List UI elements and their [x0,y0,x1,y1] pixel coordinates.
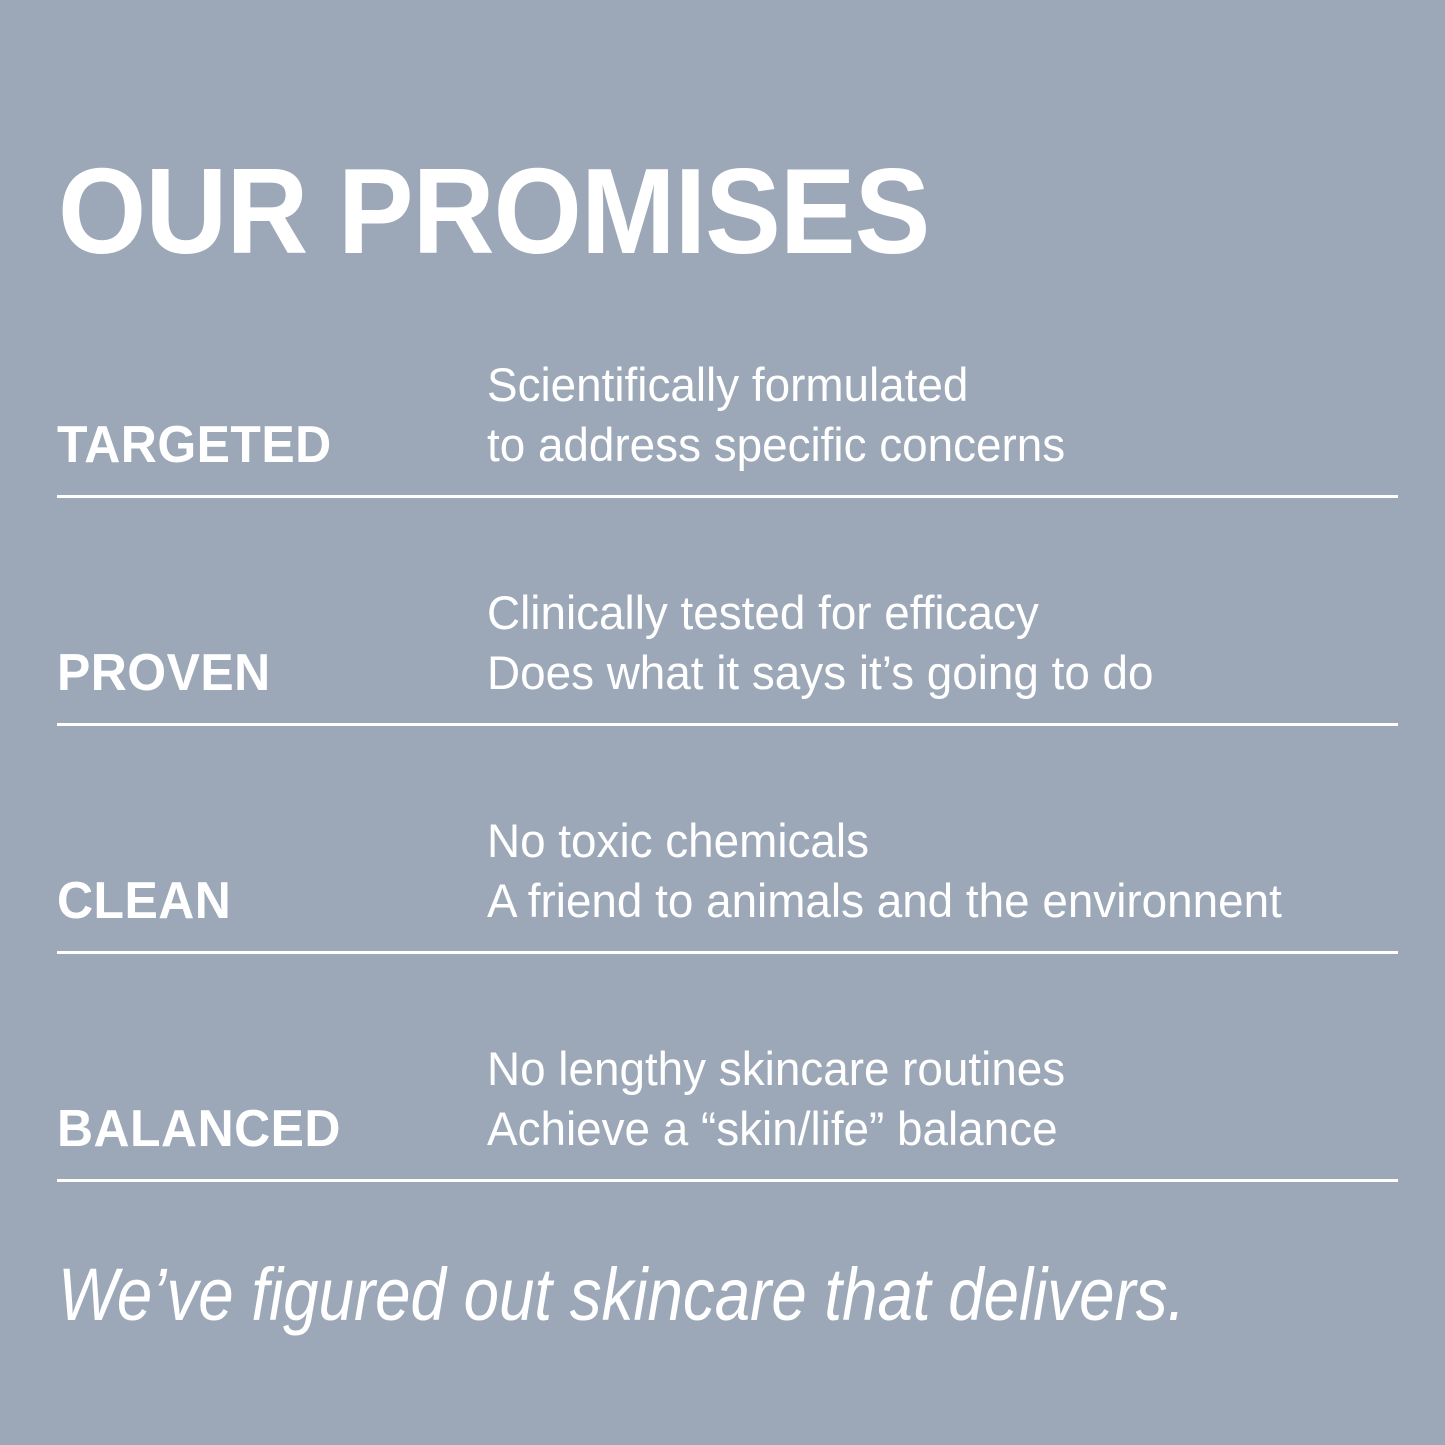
promise-content: BALANCED No lengthy skincare routines Ac… [57,1039,1398,1159]
promise-content: CLEAN No toxic chemicals A friend to ani… [57,811,1398,931]
promise-description-balanced: No lengthy skincare routines Achieve a “… [487,1039,1375,1159]
promise-list: TARGETED Scientifically formulated to ad… [0,270,1445,1182]
footer-tagline: We’ve figured out skincare that delivers… [58,1258,1185,1332]
promise-divider [57,1179,1398,1182]
promise-content: PROVEN Clinically tested for efficacy Do… [57,583,1398,703]
promise-description-line-1: Scientifically formulated [487,355,1375,415]
promise-label-targeted: TARGETED [57,419,470,475]
promise-label-proven: PROVEN [57,647,470,703]
promise-description-line-1: Clinically tested for efficacy [487,583,1375,643]
promise-description-line-1: No toxic chemicals [487,811,1375,871]
promises-panel: OUR PROMISES TARGETED Scientifically for… [0,0,1445,1445]
promise-label-clean: CLEAN [57,875,470,931]
promise-row-clean: CLEAN No toxic chemicals A friend to ani… [0,726,1445,954]
promise-description-line-2: A friend to animals and the environnent [487,871,1375,931]
promise-label-balanced: BALANCED [57,1103,470,1159]
page-title: OUR PROMISES [58,150,929,272]
promise-row-balanced: BALANCED No lengthy skincare routines Ac… [0,954,1445,1182]
promise-content: TARGETED Scientifically formulated to ad… [57,355,1398,475]
promise-description-clean: No toxic chemicals A friend to animals a… [487,811,1375,931]
promise-row-targeted: TARGETED Scientifically formulated to ad… [0,270,1445,498]
promise-description-proven: Clinically tested for efficacy Does what… [487,583,1375,703]
promise-row-proven: PROVEN Clinically tested for efficacy Do… [0,498,1445,726]
promise-description-line-2: to address specific concerns [487,415,1375,475]
promise-description-line-1: No lengthy skincare routines [487,1039,1375,1099]
promise-description-targeted: Scientifically formulated to address spe… [487,355,1375,475]
promise-description-line-2: Achieve a “skin/life” balance [487,1099,1375,1159]
promise-description-line-2: Does what it says it’s going to do [487,643,1375,703]
